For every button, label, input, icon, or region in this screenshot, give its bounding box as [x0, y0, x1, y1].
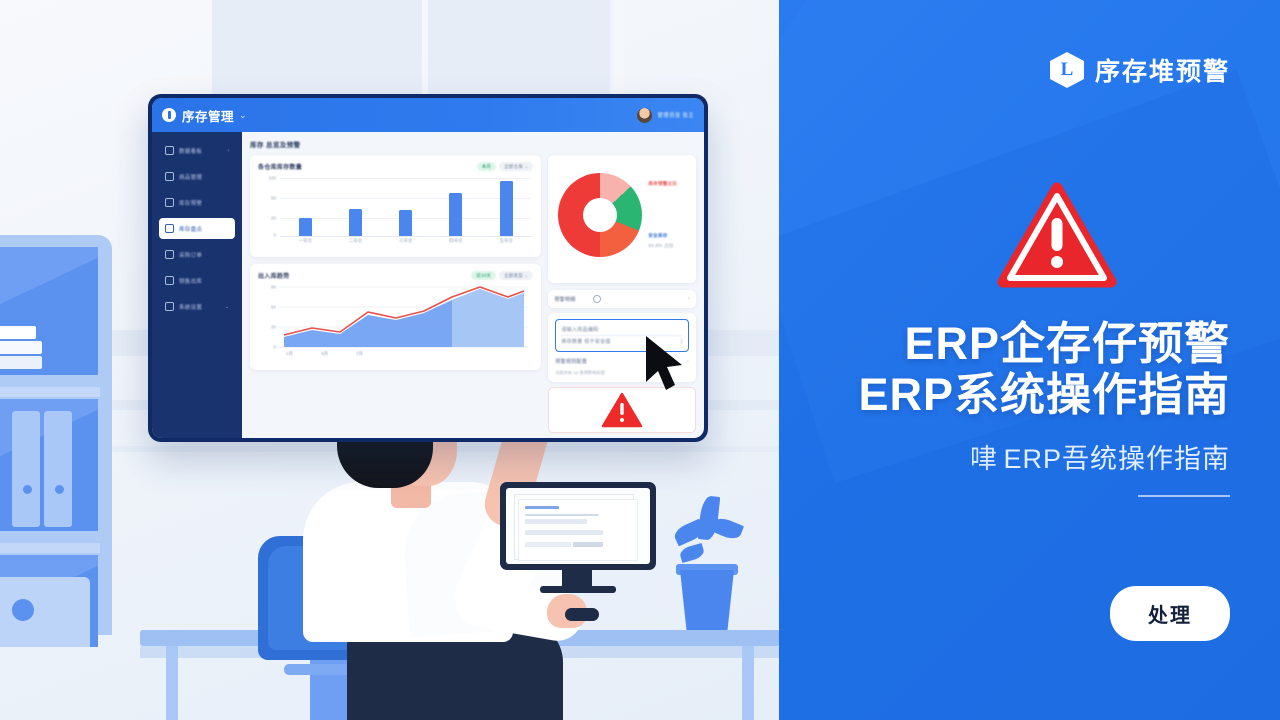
chevron-right-icon[interactable]: › [688, 296, 690, 302]
donut-label-safe: 安全库存 [648, 233, 667, 239]
binder [44, 411, 72, 527]
area-xtick: 7月 [356, 351, 363, 357]
hero-subtitle-overlay: 㖀 [970, 437, 998, 476]
desk-leg [166, 646, 178, 720]
binder [12, 411, 40, 527]
donut-label-critical: 库存预警占比 [648, 181, 677, 187]
search-value: 库存数量 低于安全值 [561, 338, 610, 345]
bar-item [399, 210, 412, 236]
mouse-device [565, 608, 599, 621]
bar-item [299, 218, 312, 236]
bar-ytick: 100 [268, 176, 276, 181]
bar-ytick: 50 [271, 196, 276, 201]
donut-label-percent: 54.8% 占比 [648, 243, 673, 249]
page-title: 库存 总览及预警 [250, 139, 696, 149]
bar-chart-title: 各仓库库存数量 [258, 162, 302, 171]
sidebar-item-label: 系统设置 [179, 303, 202, 311]
bar-chart-filter-pill[interactable]: 全部仓库 ⌄ [499, 162, 533, 171]
sidebar-item-label: 销售出库 [179, 277, 202, 285]
truck-icon [165, 276, 174, 285]
bar-ytick: 20 [271, 216, 276, 221]
area-ytick: 80 [271, 285, 276, 290]
sidebar-item-settings[interactable]: 系统设置 ⌄ [159, 296, 235, 317]
logo-text: 序存堆预警 [1095, 52, 1230, 88]
warning-triangle-icon [997, 182, 1117, 290]
warning-triangle-icon [601, 392, 643, 428]
monitor-neck [562, 570, 592, 588]
donut-chart-card: 库存预警占比 安全库存 54.8% 占比 [548, 155, 696, 283]
logo-hex-icon [1050, 52, 1084, 88]
clipboard-icon [165, 224, 174, 233]
bar-item [449, 193, 462, 236]
desk-leg [742, 646, 754, 720]
bar-xtick: 四号仓 [449, 238, 463, 244]
divider [1138, 495, 1230, 497]
sidebar-item-label: 库存盘点 [179, 225, 202, 233]
area-ytick: 20 [271, 325, 276, 330]
area-chart-card: 出入库趋势 近30天 全部类型 ⌄ 80 50 [250, 264, 541, 370]
hero-title-line1: ERP企存仔预警 [800, 318, 1230, 369]
hero-title-block: ERP企存仔预警 ERP系统操作指南 ERP吾统操作指南 㖀 [800, 318, 1230, 497]
avatar [637, 108, 652, 123]
cover-slide: 序存管理 ⌄ 管理员张 张主 数据看板 › 商品管理 [0, 0, 1280, 720]
app-logo-icon [162, 108, 176, 122]
cart-icon [165, 250, 174, 259]
dashboard-topbar: 序存管理 ⌄ 管理员张 张主 [152, 98, 704, 132]
bar-xtick: 一号仓 [298, 238, 312, 244]
area-ytick: 0 [273, 345, 276, 350]
office-illustration-scene: 序存管理 ⌄ 管理员张 张主 数据看板 › 商品管理 [0, 0, 780, 720]
bar-chart-period-pill[interactable]: 本月 [477, 162, 496, 171]
bar-ytick: 0 [273, 233, 276, 238]
bar-xtick: 三号仓 [399, 238, 413, 244]
sidebar-item-label: 采购订单 [179, 251, 202, 259]
bookshelf [0, 235, 112, 635]
dashboard-content: 库存 总览及预警 各仓库库存数量 本月 全部仓库 ⌄ [242, 132, 704, 438]
alert-detail-header[interactable]: 预警明细 › [548, 290, 696, 308]
sidebar-item-stocktake[interactable]: 库存盘点 [159, 218, 235, 239]
gear-icon [165, 302, 174, 311]
bar-xtick: 五号仓 [499, 238, 513, 244]
sidebar-item-stock-alert[interactable]: 库存预警 [159, 192, 235, 213]
hero-subtitle-main: ERP吾统操作指南 [1003, 437, 1230, 476]
sidebar-item-outbound[interactable]: 销售出库 [159, 270, 235, 291]
sidebar-item-label: 商品管理 [179, 173, 202, 181]
potted-plant [672, 496, 742, 632]
box-icon [165, 172, 174, 181]
chevron-down-icon[interactable]: ⌄ [239, 110, 247, 121]
hero-title-line2: ERP系统操作指南 [800, 369, 1230, 420]
chevron-right-icon: › [227, 148, 229, 154]
sidebar-item-label: 数据看板 [179, 147, 202, 155]
area-chart-svg [278, 285, 528, 351]
app-title: 序存管理 [182, 106, 234, 125]
area-xtick: 4月 [321, 351, 328, 357]
dashboard-sidebar: 数据看板 › 商品管理 库存预警 库存盘点 [152, 132, 242, 438]
book-stack [0, 317, 42, 369]
sidebar-item-dashboard[interactable]: 数据看板 › [159, 140, 235, 161]
bar-series [280, 176, 531, 236]
area-chart-plot: 80 50 20 0 [258, 285, 533, 363]
user-menu[interactable]: 管理员张 张主 [637, 108, 694, 123]
sidebar-item-label: 库存预警 [179, 199, 202, 207]
process-button[interactable]: 处理 [1110, 586, 1230, 641]
monitor-document-front [518, 499, 638, 561]
user-name: 管理员张 张主 [657, 111, 694, 119]
chevron-down-icon: ⌄ [225, 304, 229, 310]
hero-subtitle: ERP吾统操作指南 㖀 [800, 437, 1230, 473]
area-chart-period-pill[interactable]: 近30天 [471, 271, 496, 280]
brand-logo: 序存堆预警 [1050, 52, 1230, 88]
area-xtick: 1月 [286, 351, 293, 357]
mouse-cursor-icon [636, 332, 688, 394]
bar-item [500, 181, 513, 236]
area-chart-title: 出入库趋势 [258, 271, 290, 280]
bar-chart-plot: 100 50 20 0 [258, 176, 533, 250]
bar-chart-card: 各仓库库存数量 本月 全部仓库 ⌄ 100 50 [250, 155, 541, 257]
desktop-monitor [500, 482, 656, 570]
right-hero-panel: 序存堆预警 ERP企存仔预警 ERP系统操作指南 ERP吾统操作指南 㖀 处理 [779, 0, 1280, 720]
bar-xtick: 二号仓 [349, 238, 363, 244]
alert-rule-label: 预警规则配置 [555, 358, 587, 365]
storage-box [0, 577, 90, 647]
dashboard-screen: 序存管理 ⌄ 管理员张 张主 数据看板 › 商品管理 [148, 94, 708, 442]
alert-icon [165, 198, 174, 207]
donut-chart [558, 173, 642, 257]
alert-detail-label: 预警明细 [554, 296, 575, 303]
area-chart-filter-pill[interactable]: 全部类型 ⌄ [499, 271, 533, 280]
bar-item [349, 209, 362, 236]
area-ytick: 50 [271, 305, 276, 310]
sidebar-item-products[interactable]: 商品管理 [159, 166, 235, 187]
refresh-icon[interactable] [593, 295, 601, 303]
dashboard-icon [165, 146, 174, 155]
sidebar-item-purchase[interactable]: 采购订单 [159, 244, 235, 265]
